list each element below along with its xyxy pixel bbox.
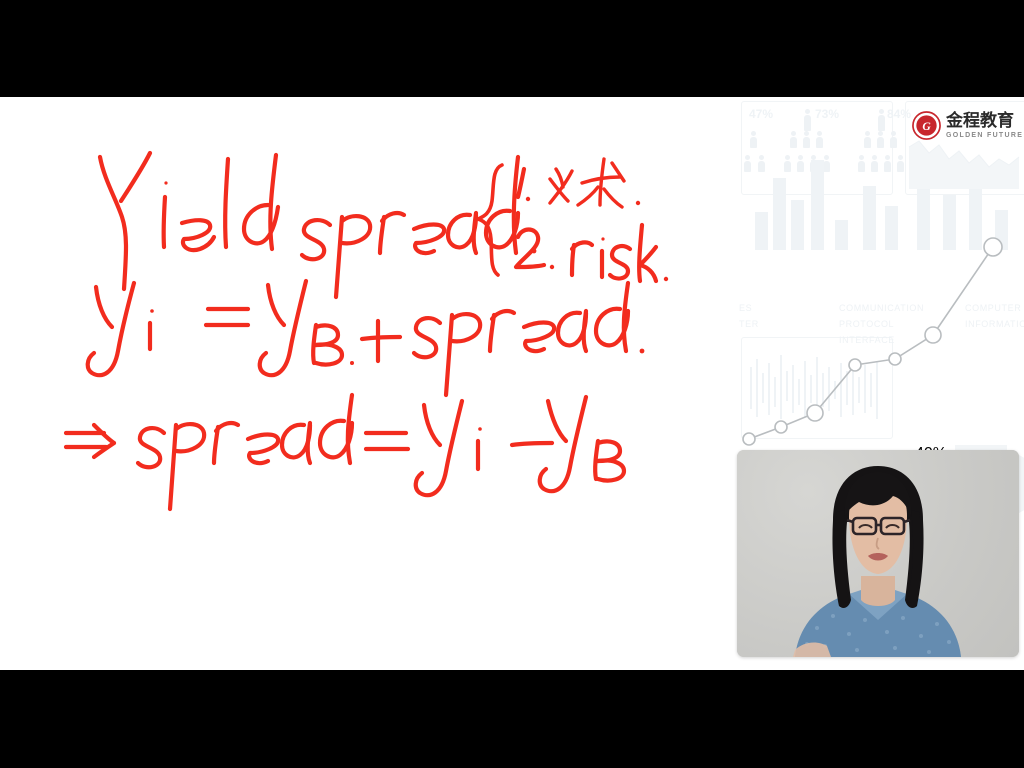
handwritten-annotation-layer xyxy=(0,97,720,670)
letterbox-bottom xyxy=(0,670,1024,768)
letterbox-top xyxy=(0,0,1024,97)
video-player-screen: 专业 · 创新 · 增值 47% 73% 84% xyxy=(0,0,1024,768)
handwriting-strokes xyxy=(0,97,720,670)
slide-canvas: 专业 · 创新 · 增值 47% 73% 84% xyxy=(0,97,1024,670)
svg-text:G: G xyxy=(922,120,931,133)
instructor-webcam-feed[interactable] xyxy=(737,450,1019,657)
ig-line-chart xyxy=(737,97,1024,450)
presenter-figure xyxy=(737,450,1019,657)
logo-chinese-name: 金程教育 xyxy=(946,113,1023,130)
brand-logo: G 金程教育 GOLDEN FUTURE xyxy=(912,111,1023,140)
seal-icon: G xyxy=(912,111,941,140)
infographic-background: 47% 73% 84% xyxy=(737,97,1024,450)
logo-english-name: GOLDEN FUTURE xyxy=(946,132,1023,139)
logo-text-block: 金程教育 GOLDEN FUTURE xyxy=(946,113,1023,139)
